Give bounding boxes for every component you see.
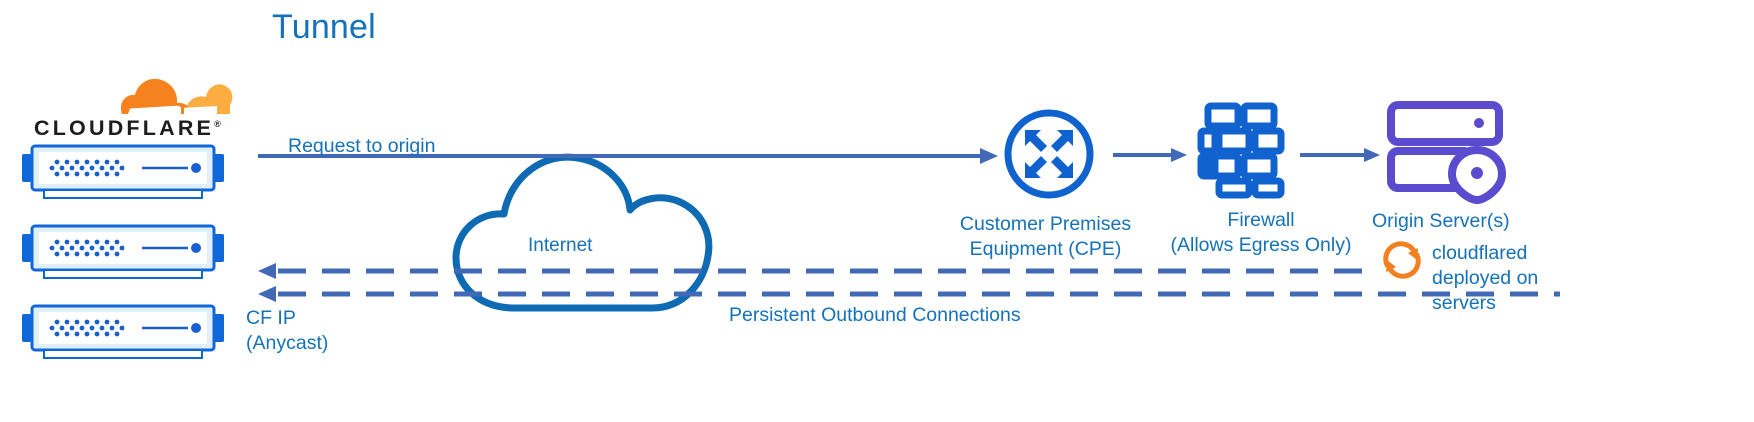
tunnel-architecture-diagram: Tunnel CLOUDFLARE®	[0, 0, 1754, 422]
cloudflare-server-stack-icon	[18, 302, 228, 362]
left-dashed-arrow-icon	[258, 285, 1560, 303]
cloudflared-sync-icon-wrap	[1379, 238, 1425, 282]
cloudflare-logo: CLOUDFLARE®	[18, 72, 238, 142]
persistent-outbound-line-1	[258, 262, 1370, 280]
cf-server-2	[18, 222, 228, 282]
trademark-symbol: ®	[214, 119, 224, 129]
firewall-node	[1195, 100, 1287, 198]
cpe-label: Customer Premises Equipment (CPE)	[943, 212, 1148, 262]
origin-server-label: Origin Server(s)	[1372, 209, 1532, 234]
cf-server-3	[18, 302, 228, 362]
origin-server-node	[1387, 100, 1512, 200]
cpe-node	[1003, 108, 1095, 200]
cloudflare-server-stack-icon	[18, 222, 228, 282]
router-four-arrows-circle-icon	[1003, 108, 1095, 200]
brick-wall-firewall-icon	[1195, 100, 1287, 198]
page-title: Tunnel	[272, 8, 376, 47]
right-arrow-icon	[1300, 146, 1380, 164]
cpe-to-firewall-arrow	[1113, 146, 1187, 164]
firewall-label: Firewall (Allows Egress Only)	[1160, 208, 1362, 258]
right-arrow-icon	[1113, 146, 1187, 164]
request-to-origin-label: Request to origin	[288, 134, 435, 159]
persistent-outbound-line-2	[258, 285, 1560, 303]
server-with-location-pin-icon	[1387, 100, 1512, 200]
firewall-to-origin-arrow	[1300, 146, 1380, 164]
cloudflare-server-stack-icon	[18, 142, 228, 202]
cloudflared-label: cloudflared deployed on servers	[1432, 241, 1562, 316]
left-dashed-arrow-icon	[258, 262, 1370, 280]
cf-server-1	[18, 142, 228, 202]
cf-ip-anycast-label: CF IP (Anycast)	[246, 306, 328, 356]
sync-circular-arrows-icon	[1379, 238, 1425, 282]
persistent-outbound-label: Persistent Outbound Connections	[729, 303, 1021, 328]
cloudflare-wordmark-text: CLOUDFLARE	[34, 116, 214, 140]
cloudflare-wordmark: CLOUDFLARE®	[34, 116, 224, 141]
internet-label: Internet	[528, 233, 592, 258]
